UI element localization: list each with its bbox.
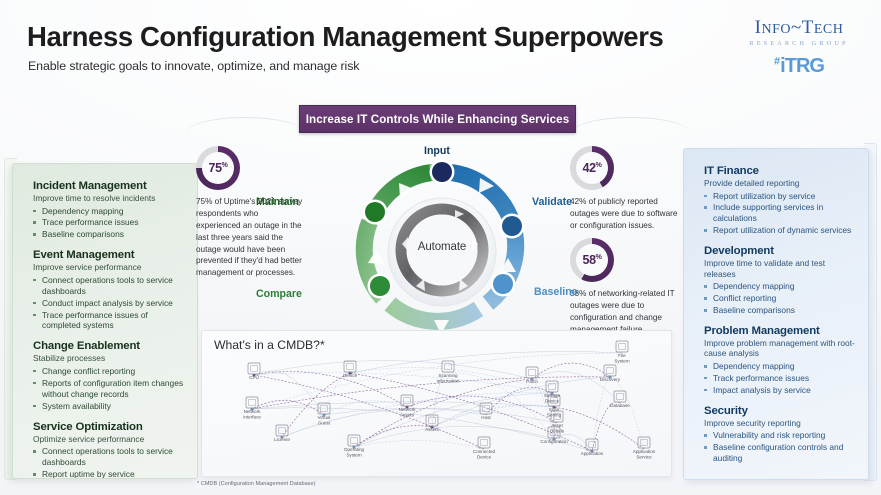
cmdb-node-label: Assets [425, 427, 439, 432]
cmdb-panel: What's in a CMDB?* CPUDeviceScanningInfo… [201, 330, 672, 477]
cmdb-node-label: System [614, 359, 629, 364]
capability-list-item: Report utilization of dynamic services [704, 225, 855, 236]
cmdb-node-label: Device [477, 455, 491, 460]
capability-subtitle: Stabilize processes [33, 353, 184, 364]
capability-list-item: Dependency mapping [33, 206, 184, 217]
capability-subtitle: Improve problem management with root-cau… [704, 338, 855, 359]
cmdb-node-label: Operating [344, 447, 365, 452]
cmdb-node-label: Application [581, 451, 604, 456]
section-banner: Increase IT Controls While Enhancing Ser… [299, 105, 576, 133]
stat-card-42: 42% 42% of publicly reported outages wer… [570, 146, 680, 232]
cmdb-link [486, 387, 552, 415]
stat-description: 75% of Uptime's 2021 survey respondents … [196, 196, 304, 279]
cmdb-node-label: Virtual [318, 415, 331, 420]
application-service-icon: ApplicationService [633, 437, 656, 460]
license-icon: License [274, 425, 290, 442]
capability-list-item: Baseline configuration controls and audi… [704, 442, 855, 464]
cmdb-node-label: Configuration [540, 439, 568, 444]
cmdb-link [354, 426, 432, 447]
stat-card-58: 58% 58% of networking-related IT outages… [570, 238, 680, 336]
capability-list-item: Conflict reporting [704, 293, 855, 304]
storage-device-icon: StorageDevice [544, 381, 561, 404]
page-title: Harness Configuration Management Superpo… [27, 21, 663, 53]
banner-wing-left [186, 117, 304, 133]
capability-section: Change EnablementStabilize processesChan… [33, 340, 184, 411]
capability-list-item: Trace performance issues of completed sy… [33, 310, 184, 332]
cmdb-node-label: Patch [526, 379, 538, 384]
capability-list-item: Dependency mapping [704, 281, 855, 292]
capability-title: Event Management [33, 249, 184, 261]
virtual-guest-icon: VirtualGuest [318, 403, 331, 426]
capability-list: Dependency mappingTrace performance issu… [33, 206, 184, 241]
cmdb-node-label: Network [399, 407, 417, 412]
capability-list: Vulnerability and risk reportingBaseline… [704, 430, 855, 464]
capability-list: Report utilization by serviceInclude sup… [704, 191, 855, 237]
cpu-icon: CPU [248, 363, 260, 380]
stat-card-75: 75% 75% of Uptime's 2021 survey responde… [196, 146, 304, 279]
logo-ech: ECH [814, 22, 844, 37]
capability-list-item: Report utilization by service [704, 191, 855, 202]
cmdb-node-label: Application [633, 449, 656, 454]
donut-chart-75: 75% [196, 146, 240, 190]
cmdb-link [432, 377, 610, 427]
wheel-label-input: Input [424, 145, 450, 157]
assets-icon: Assets [425, 415, 439, 432]
donut-chart-42: 42% [570, 146, 614, 190]
capability-title: Change Enablement [33, 340, 184, 352]
itrg-logo: #iTRG [735, 56, 863, 76]
capability-list-item: Impact analysis by service [704, 385, 855, 396]
device-icon: Device [343, 361, 357, 378]
donut-hole: 75% [202, 152, 234, 184]
network-assets-icon: NetworkAssets [399, 395, 417, 418]
capability-list-item: Baseline comparisons [704, 305, 855, 316]
dot-compare-fill [370, 276, 390, 296]
cmdb-node-label: Connected [473, 449, 496, 454]
wheel-center-label: Automate [318, 241, 566, 253]
cmdb-node-label: Database [610, 403, 630, 408]
page-subtitle: Enable strategic goals to innovate, opti… [28, 59, 359, 73]
logo-itrg-text: iTRG [780, 55, 824, 77]
info-tech-logo: INFO~TECH RESEARCH GROUP #iTRG [735, 18, 863, 80]
capability-subtitle: Optimize service performance [33, 434, 184, 445]
stat-description: 42% of publicly reported outages were du… [570, 196, 680, 232]
capability-list-item: Dependency mapping [704, 361, 855, 372]
capability-section: Service OptimizationOptimize service per… [33, 421, 184, 478]
cmdb-link [432, 405, 554, 427]
right-panel-content: IT FinanceProvide detailed reportingRepo… [684, 149, 868, 479]
cmdb-link [282, 409, 486, 437]
arc-bottom [390, 304, 479, 321]
cmdb-link [592, 402, 620, 451]
capability-title: Problem Management [704, 325, 855, 337]
capability-subtitle: Improve time to resolve incidents [33, 193, 184, 204]
wheel-label-baseline: Baseline [534, 286, 578, 298]
donut-hole: 42% [576, 152, 608, 184]
database-icon: Database [610, 391, 630, 408]
dot-maintain-fill [365, 202, 385, 222]
cmdb-network-graph: CPUDeviceScanningInformationPatchDiscove… [202, 331, 672, 477]
capability-list-item: Report uptime by service [33, 469, 184, 478]
cmdb-node-label: Storage [544, 393, 561, 398]
left-capabilities-panel: Incident ManagementImprove time to resol… [12, 163, 198, 479]
capability-list-item: Baseline comparisons [33, 229, 184, 240]
logo-tagline: RESEARCH GROUP [735, 40, 863, 47]
cmdb-node-label: Device [545, 399, 559, 404]
capability-list-item: Conduct impact analysis by service [33, 298, 184, 309]
capability-list: Connect operations tools to service dash… [33, 275, 184, 332]
cmdb-node-label: License [274, 437, 290, 442]
cmdb-node-label: Assets [400, 413, 414, 418]
wheel-label-compare: Compare [256, 288, 302, 300]
cmdb-link [592, 377, 610, 451]
automation-cycle-wheel: Automate Input Validate Baseline Compare… [318, 148, 566, 343]
operating-system-icon: OperatingSystem [344, 435, 365, 458]
capability-list: Change conflict reportingReports of conf… [33, 366, 184, 412]
cmdb-node-label: Service [636, 455, 652, 460]
capability-section: DevelopmentImprove time to validate and … [704, 245, 855, 316]
file-system-icon: FileSystem [614, 341, 629, 364]
cmdb-footnote: * CMDB (Configuration Management Databas… [197, 481, 315, 487]
wheel-label-maintain: Maintain [256, 196, 299, 208]
logo-t: T [802, 17, 814, 38]
capability-subtitle: Improve service performance [33, 262, 184, 273]
stat-description: 58% of networking-related IT outages wer… [570, 288, 680, 336]
cmdb-node-label: Setting [547, 413, 562, 418]
cmdb-node-label: Scanning [438, 373, 458, 378]
logo-tilde: ~ [791, 17, 802, 38]
donut-hole: 58% [576, 244, 608, 276]
right-capabilities-panel: IT FinanceProvide detailed reportingRepo… [683, 148, 869, 480]
cmdb-link [354, 441, 484, 449]
cmdb-node-label: Information [437, 379, 460, 384]
capability-list-item: Track performance issues [704, 373, 855, 384]
cmdb-node-label: Interface [243, 415, 261, 420]
capability-list-item: Change conflict reporting [33, 366, 184, 377]
cmdb-node-label: Guest [318, 421, 331, 426]
cmdb-node-label: Device [343, 373, 357, 378]
donut-value: 42% [583, 161, 602, 175]
host-icon: Host [480, 403, 492, 420]
capability-list-item: Trace performance issues [33, 217, 184, 228]
capability-section: IT FinanceProvide detailed reportingRepo… [704, 165, 855, 236]
dot-input-fill [432, 162, 452, 182]
capability-section: Incident ManagementImprove time to resol… [33, 180, 184, 240]
cmdb-node-label: Discovery [600, 377, 621, 382]
cmdb-link [354, 426, 554, 447]
connected-device-icon: ConnectedDevice [473, 437, 496, 460]
capability-list-item: Connect operations tools to service dash… [33, 275, 184, 297]
cmdb-node-label: File [618, 353, 626, 358]
slide-canvas: Harness Configuration Management Superpo… [0, 0, 881, 495]
cmdb-link [254, 361, 532, 379]
capability-title: Service Optimization [33, 421, 184, 433]
cmdb-node-label: CPU [249, 375, 259, 380]
capability-title: Development [704, 245, 855, 257]
donut-value: 58% [583, 253, 602, 267]
capability-list-item: Include supporting services in calculati… [704, 202, 855, 224]
cmdb-link [354, 393, 552, 447]
cmdb-node-label: Network [244, 409, 262, 414]
capability-list: Connect operations tools to service dash… [33, 446, 184, 478]
network-interface-icon: NetworkInterface [243, 397, 261, 420]
wheel-label-validate: Validate [532, 196, 572, 208]
donut-chart-58: 58% [570, 238, 614, 282]
capability-title: Security [704, 405, 855, 417]
cmdb-link [350, 351, 622, 373]
banner-wing-right [572, 117, 690, 133]
capability-list: Dependency mappingTrack performance issu… [704, 361, 855, 396]
capability-title: Incident Management [33, 180, 184, 192]
capability-section: Problem ManagementImprove problem manage… [704, 325, 855, 396]
capability-title: IT Finance [704, 165, 855, 177]
discovery-icon: Discovery [600, 365, 621, 382]
logo-wordmark: INFO~TECH [735, 18, 863, 37]
capability-list-item: Connect operations tools to service dash… [33, 446, 184, 468]
capability-list: Dependency mappingConflict reportingBase… [704, 281, 855, 316]
capability-list-item: Vulnerability and risk reporting [704, 430, 855, 441]
capability-subtitle: Improve time to validate and test releas… [704, 258, 855, 279]
logo-nfo: NFO [761, 22, 791, 37]
cmdb-link [610, 377, 644, 449]
dot-baseline-fill [493, 274, 513, 294]
capability-subtitle: Improve security reporting [704, 418, 855, 429]
capability-section: SecurityImprove security reportingVulner… [704, 405, 855, 464]
capability-list-item: Reports of configuration item changes wi… [33, 378, 184, 400]
cmdb-node-label: Host [481, 415, 491, 420]
capability-subtitle: Provide detailed reporting [704, 178, 855, 189]
capability-list-item: System availability [33, 401, 184, 412]
cmdb-link [254, 373, 552, 393]
cmdb-node-label: System [346, 453, 361, 458]
donut-value: 75% [209, 161, 228, 175]
dot-validate-fill [502, 216, 522, 236]
capability-section: Event ManagementImprove service performa… [33, 249, 184, 331]
left-panel-content: Incident ManagementImprove time to resol… [13, 164, 197, 478]
